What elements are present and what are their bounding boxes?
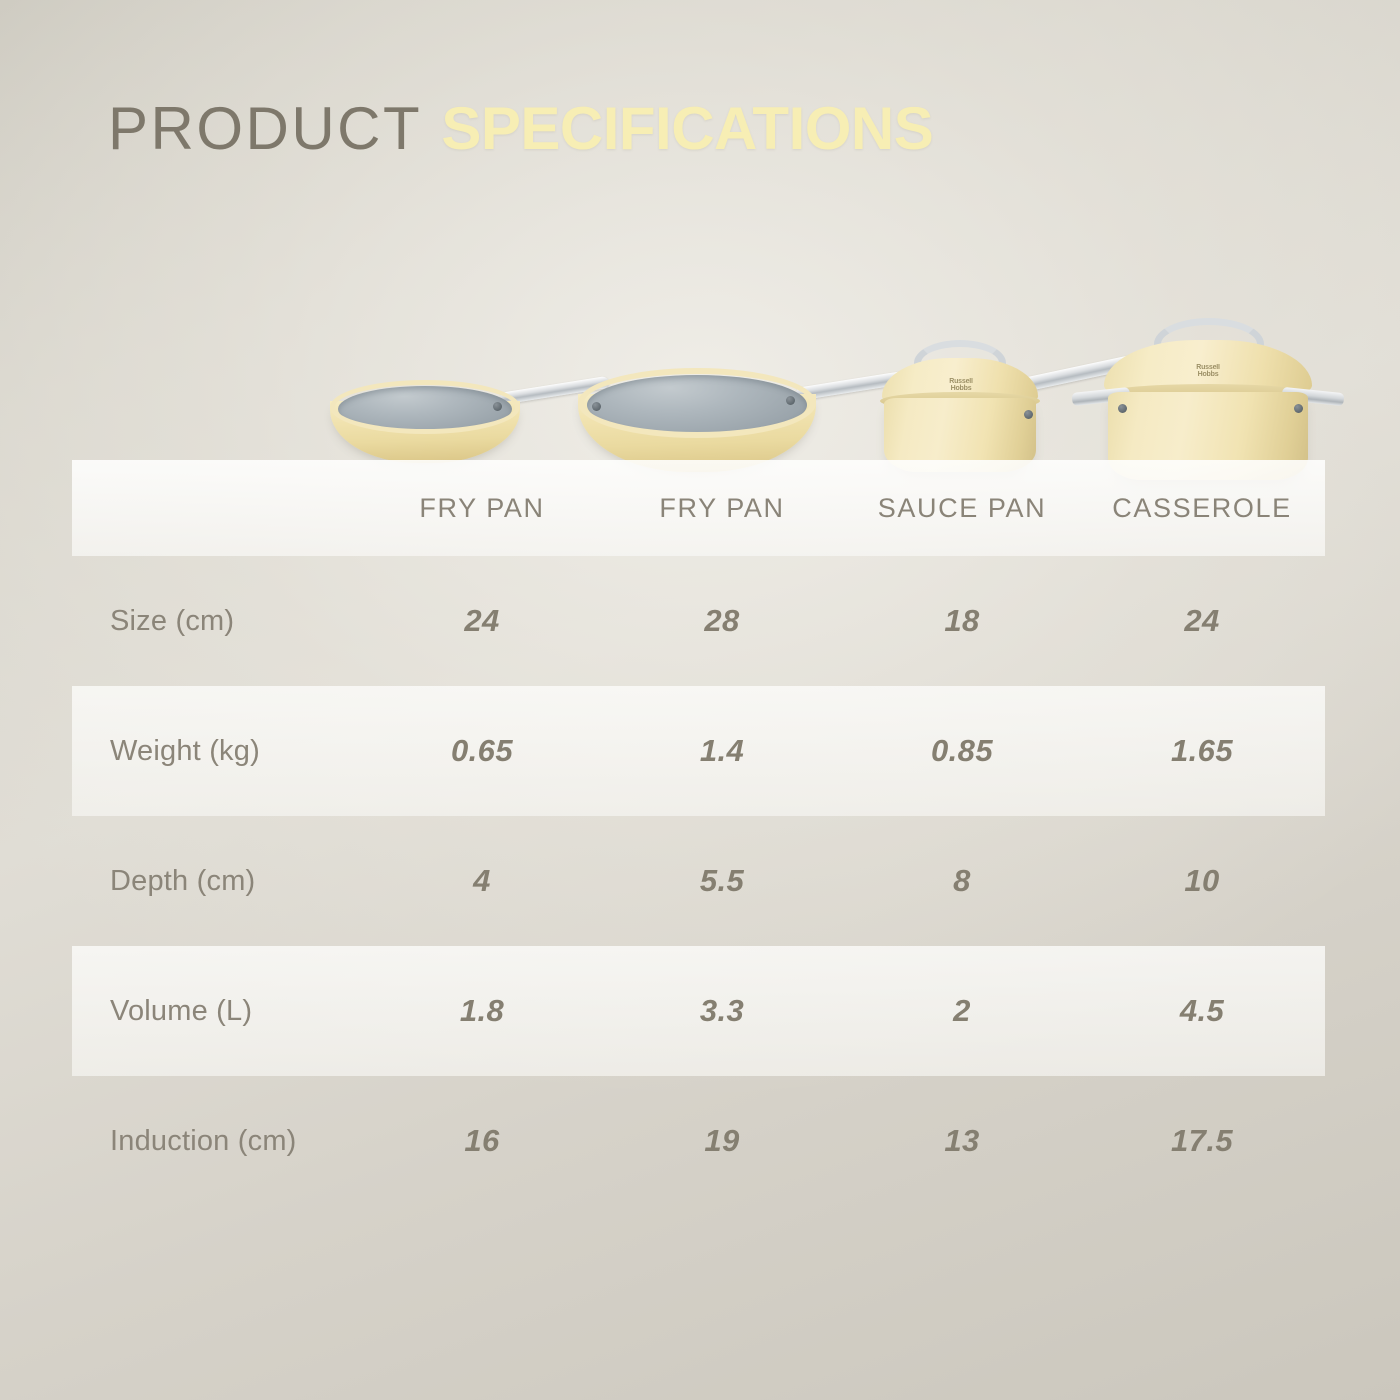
- specifications-table: FRY PAN FRY PAN SAUCE PAN CASSEROLE Size…: [72, 460, 1325, 1206]
- cell-weight-fry-pan-28: 1.4: [602, 733, 842, 769]
- row-label-weight: Weight (kg): [72, 735, 362, 768]
- product-image-casserole-24: RussellHobbs: [1082, 312, 1342, 480]
- cell-weight-fry-pan-24: 0.65: [362, 733, 602, 769]
- cell-weight-casserole: 1.65: [1082, 733, 1322, 769]
- table-row: Weight (kg) 0.65 1.4 0.85 1.65: [72, 686, 1325, 816]
- column-header-1: FRY PAN: [602, 493, 842, 524]
- cell-depth-fry-pan-24: 4: [362, 863, 602, 899]
- cell-weight-sauce-pan: 0.85: [842, 733, 1082, 769]
- table-row: Induction (cm) 16 19 13 17.5: [72, 1076, 1325, 1206]
- row-label-size: Size (cm): [72, 605, 362, 638]
- casserole-rivet-left: [1118, 404, 1127, 413]
- sauce-pan-rivet: [1024, 410, 1033, 419]
- row-label-induction: Induction (cm): [72, 1125, 362, 1158]
- row-label-volume: Volume (L): [72, 995, 362, 1028]
- fry-pan-28-rim: [578, 368, 816, 438]
- cell-size-fry-pan-28: 28: [602, 603, 842, 639]
- cell-induction-fry-pan-28: 19: [602, 1123, 842, 1159]
- column-header-3: CASSEROLE: [1082, 493, 1322, 524]
- page-title-accent: SPECIFICATIONS: [441, 95, 933, 162]
- cell-volume-casserole: 4.5: [1082, 993, 1322, 1029]
- row-label-depth: Depth (cm): [72, 865, 362, 898]
- cell-size-fry-pan-24: 24: [362, 603, 602, 639]
- casserole-brandmark: RussellHobbs: [1180, 364, 1236, 378]
- cell-size-sauce-pan: 18: [842, 603, 1082, 639]
- cell-depth-fry-pan-28: 5.5: [602, 863, 842, 899]
- column-header-0: FRY PAN: [362, 493, 602, 524]
- cell-induction-fry-pan-24: 16: [362, 1123, 602, 1159]
- cell-depth-casserole: 10: [1082, 863, 1322, 899]
- page-title-primary: PRODUCT: [108, 95, 422, 162]
- fry-pan-28-rivet: [786, 396, 795, 405]
- column-header-2: SAUCE PAN: [842, 493, 1082, 524]
- page-title: PRODUCT SPECIFICATIONS: [108, 94, 1308, 163]
- cell-size-casserole: 24: [1082, 603, 1322, 639]
- fry-pan-28-rivet-left: [592, 402, 601, 411]
- table-row: Size (cm) 24 28 18 24: [72, 556, 1325, 686]
- table-row: Depth (cm) 4 5.5 8 10: [72, 816, 1325, 946]
- fry-pan-24-rivet: [493, 402, 502, 411]
- fry-pan-24-rim: [330, 380, 520, 434]
- product-image-fry-pan-28: [578, 366, 858, 472]
- cell-volume-fry-pan-24: 1.8: [362, 993, 602, 1029]
- product-image-fry-pan-24: [330, 378, 540, 468]
- cell-volume-fry-pan-28: 3.3: [602, 993, 842, 1029]
- casserole-rivet-right: [1294, 404, 1303, 413]
- cell-induction-sauce-pan: 13: [842, 1123, 1082, 1159]
- sauce-pan-brandmark: RussellHobbs: [934, 378, 988, 392]
- cell-induction-casserole: 17.5: [1082, 1123, 1322, 1159]
- cell-volume-sauce-pan: 2: [842, 993, 1082, 1029]
- table-row: Volume (L) 1.8 3.3 2 4.5: [72, 946, 1325, 1076]
- table-header-row: FRY PAN FRY PAN SAUCE PAN CASSEROLE: [72, 460, 1325, 556]
- cell-depth-sauce-pan: 8: [842, 863, 1082, 899]
